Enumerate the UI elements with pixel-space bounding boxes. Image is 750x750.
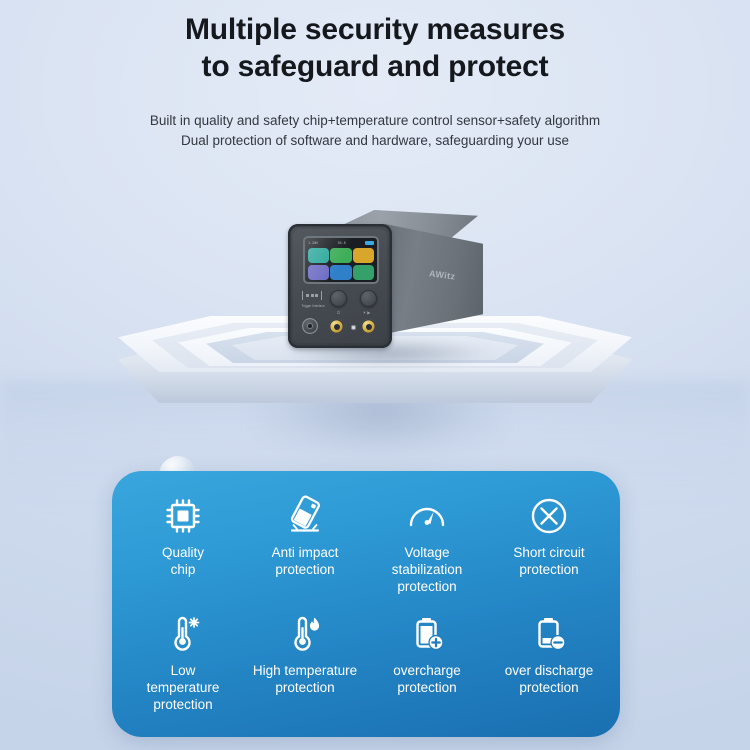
knob-power-label: ⏻ [330,310,347,315]
device-knob-power[interactable] [330,290,347,307]
battery-minus-icon [527,611,571,657]
gauge-icon [405,493,449,539]
anti-impact-icon [283,493,327,539]
mark-dot [311,294,314,297]
feature-label: Anti impact protection [272,544,339,578]
feature-label: overcharge protection [393,662,461,696]
chip-icon [162,493,204,539]
device-front-panel: 1.20V 36.8 Trigger Interface [288,224,392,348]
feature-label: over discharge protection [505,662,594,696]
battery-plus-icon [405,611,449,657]
feature-anti-impact[interactable]: Anti impact protection [244,493,366,595]
indicator-led [351,325,356,330]
product-scene: AWitz 1.20V 36.8 [0,150,750,470]
feature-low-temperature[interactable]: Low temperature protection [122,611,244,713]
feature-label: Voltage stabilization protection [392,544,463,595]
feature-high-temperature[interactable]: High temperature protection [244,611,366,713]
product-device: AWitz 1.20V 36.8 [277,210,489,365]
binding-post-positive[interactable] [329,319,344,334]
mark-dot [306,294,309,297]
binding-post-negative[interactable] [361,319,376,334]
trigger-interface-marks [302,291,322,300]
page-title-line-2: to safeguard and protect [0,48,750,85]
trigger-interface-label: Trigger Interface [301,304,325,308]
mark-dot [315,294,318,297]
knob-output-label: ☀ ▶ [358,310,375,315]
feature-short-circuit[interactable]: Short circuit protection [488,493,610,595]
feature-label: Quality chip [162,544,204,578]
thermometer-flame-icon [283,611,327,657]
feature-overcharge[interactable]: overcharge protection [366,611,488,713]
features-row-2: Low temperature protection High temperat… [122,611,610,713]
subtitle-line-1: Built in quality and safety chip+tempera… [0,85,750,131]
subtitle-line-2: Dual protection of software and hardware… [0,131,750,151]
bnc-connector[interactable] [302,318,318,334]
features-card: Quality chip Anti impact protection [112,471,620,737]
feature-quality-chip[interactable]: Quality chip [122,493,244,595]
thermometer-snowflake-icon [161,611,205,657]
feature-label: Short circuit protection [513,544,584,578]
feature-label: Low temperature protection [147,662,220,713]
header-section: Multiple security measures to safeguard … [0,0,750,151]
features-row-1: Quality chip Anti impact protection [122,493,610,595]
page-title-line-1: Multiple security measures [0,0,750,48]
device-lcd-screen[interactable]: 1.20V 36.8 [303,236,379,284]
feature-label: High temperature protection [253,662,357,696]
feature-voltage-stabilization[interactable]: Voltage stabilization protection [366,493,488,595]
feature-over-discharge[interactable]: over discharge protection [488,611,610,713]
screen-glass-reflection [305,238,377,282]
marketing-page: Multiple security measures to safeguard … [0,0,750,750]
device-knob-output[interactable] [360,290,377,307]
short-circuit-icon [527,493,571,539]
